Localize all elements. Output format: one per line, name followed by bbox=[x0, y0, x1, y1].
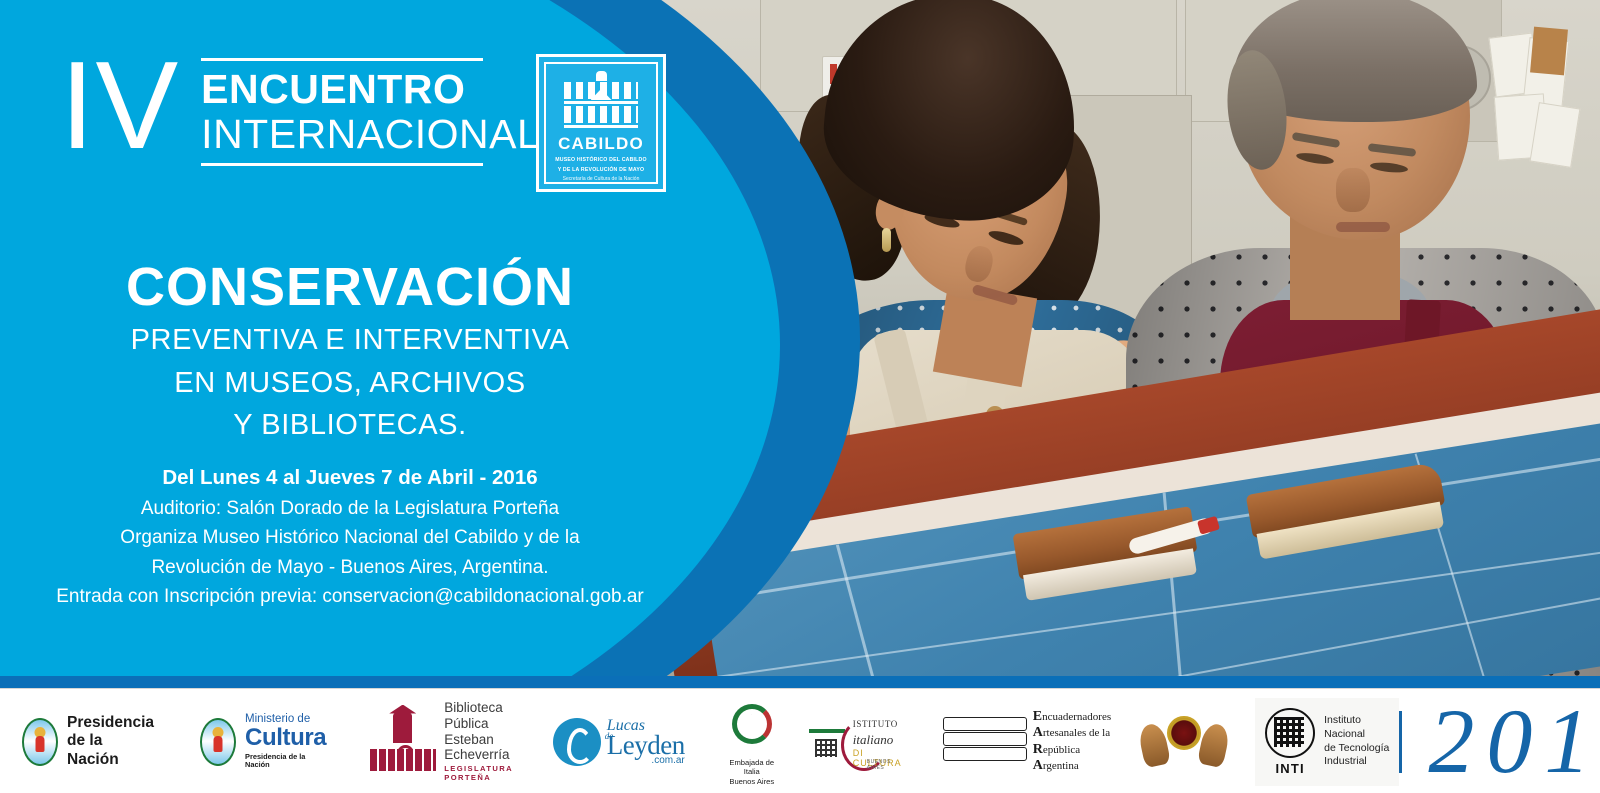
biblioteca-line1: Biblioteca Pública bbox=[444, 700, 513, 732]
cabildo-logo-sub2: Y DE LA REVOLUCIÓN DE MAYO bbox=[558, 167, 645, 174]
event-name-line1: ENCUENTRO bbox=[201, 68, 540, 111]
subtitle-line1: PREVENTIVA E INTERVENTIVA bbox=[0, 322, 700, 359]
logo-eara: Encuadernadores Artesanales de la Repúbl… bbox=[943, 704, 1111, 780]
ministerio-line2: Cultura bbox=[245, 726, 326, 751]
eara-line2: rtesanales de la bbox=[1043, 727, 1110, 739]
year-divider bbox=[1399, 711, 1402, 773]
eara-cap3: R bbox=[1033, 742, 1043, 757]
inti-label: INTI bbox=[1275, 761, 1304, 776]
earring bbox=[882, 228, 891, 252]
logo-embajada-italia: Embajada de Italia Buenos Aires bbox=[729, 704, 775, 780]
eara-cap2: A bbox=[1033, 725, 1043, 740]
presidencia-line1: Presidencia bbox=[67, 714, 154, 733]
embajada-line1: Embajada de Italia bbox=[729, 758, 775, 778]
iic-mark-icon: ISTITUTO italiano DI CULTURA BUENOS AIRE… bbox=[809, 715, 909, 769]
poster-content: IV ENCUENTRO INTERNACIONAL CABILDO MUSEO… bbox=[0, 0, 720, 676]
page-title: CONSERVACIÓN bbox=[0, 258, 700, 316]
logo-inti: INTI Instituto Nacional de Tecnología In… bbox=[1255, 698, 1399, 786]
inti-line4: Industrial bbox=[1324, 755, 1389, 769]
eara-cap1: E bbox=[1033, 709, 1042, 724]
sponsor-footer: Presidencia de la Nación Ministerio de C… bbox=[0, 688, 1600, 793]
nose bbox=[1336, 168, 1370, 212]
cabildo-tower-icon bbox=[596, 71, 607, 81]
event-name-block: ENCUENTRO INTERNACIONAL bbox=[201, 58, 540, 166]
eara-line1: ncuadernadores bbox=[1042, 711, 1111, 723]
logo-ministerio-cultura: Ministerio de Cultura Presidencia de la … bbox=[200, 704, 326, 780]
inti-grid-icon bbox=[1265, 708, 1315, 758]
poster-title-block: CONSERVACIÓN PREVENTIVA E INTERVENTIVA E… bbox=[0, 258, 700, 444]
library-building-icon bbox=[370, 713, 436, 771]
biblioteca-line2: Esteban Echeverría bbox=[444, 732, 513, 764]
bottom-blue-strip bbox=[0, 676, 1600, 688]
eara-line3: epública bbox=[1043, 744, 1080, 756]
iic-line4: BUENOS AIRES bbox=[867, 759, 909, 771]
argentina-shield-icon bbox=[22, 718, 58, 766]
biblioteca-line3: LEGISLATURA PORTEÑA bbox=[444, 765, 513, 783]
leyden-monogram-icon bbox=[553, 718, 601, 766]
subtitle-line2: EN MUSEOS, ARCHIVOS bbox=[0, 365, 700, 402]
mouth bbox=[1336, 222, 1390, 232]
edition-numeral: IV bbox=[60, 52, 179, 161]
cabildo-logo-sub1: MUSEO HISTÓRICO DEL CABILDO bbox=[555, 157, 646, 164]
event-organizer-line1: Organiza Museo Histórico Nacional del Ca… bbox=[0, 523, 700, 552]
argentina-shield-icon bbox=[200, 718, 236, 766]
iic-line1: ISTITUTO bbox=[853, 719, 898, 729]
logo-lucas-leyden: Lucas de Leyden .com.ar bbox=[553, 704, 685, 780]
cabildo-logo-name: CABILDO bbox=[558, 134, 644, 154]
event-header: IV ENCUENTRO INTERNACIONAL bbox=[60, 52, 540, 166]
inti-line1: Instituto bbox=[1324, 714, 1389, 728]
embajada-line2: Buenos Aires bbox=[729, 777, 775, 787]
rule-bottom bbox=[201, 163, 483, 166]
logo-crest bbox=[1139, 704, 1229, 780]
event-name-line2: INTERNACIONAL bbox=[201, 113, 540, 156]
leyden-prefix: de bbox=[605, 732, 614, 740]
event-venue: Auditorio: Salón Dorado de la Legislatur… bbox=[0, 494, 700, 523]
logo-biblioteca-publica: Biblioteca Pública Esteban Echeverría LE… bbox=[370, 704, 513, 780]
heraldic-crest-icon bbox=[1139, 714, 1229, 770]
logo-istituto-italiano-cultura: ISTITUTO italiano DI CULTURA BUENOS AIRE… bbox=[809, 704, 909, 780]
inti-line2: Nacional bbox=[1324, 728, 1389, 742]
logo-presidencia: Presidencia de la Nación bbox=[22, 704, 154, 780]
event-dates: Del Lunes 4 al Jueves 7 de Abril - 2016 bbox=[0, 462, 700, 494]
cabildo-logo: CABILDO MUSEO HISTÓRICO DEL CABILDO Y DE… bbox=[536, 54, 666, 192]
inti-line3: de Tecnología bbox=[1324, 742, 1389, 756]
event-organizer-line2: Revolución de Mayo - Buenos Aires, Argen… bbox=[0, 553, 700, 582]
cabildo-arches-icon bbox=[564, 82, 638, 130]
italy-emblem-icon bbox=[729, 704, 775, 756]
poster-root: IV ENCUENTRO INTERNACIONAL CABILDO MUSEO… bbox=[0, 0, 1600, 793]
ministerio-line3: Presidencia de la Nación bbox=[245, 753, 326, 768]
event-info-block: Del Lunes 4 al Jueves 7 de Abril - 2016 … bbox=[0, 462, 700, 612]
subtitle-line3: Y BIBLIOTECAS. bbox=[0, 407, 700, 444]
iic-line2: italiano bbox=[853, 732, 893, 748]
year-label: 2016 bbox=[1428, 704, 1600, 779]
eara-cap4: A bbox=[1033, 758, 1043, 773]
cabildo-logo-sub3: Secretaría de Cultura de la Nación bbox=[563, 176, 640, 182]
eara-line4: rgentina bbox=[1043, 760, 1079, 772]
event-registration: Entrada con Inscripción previa: conserva… bbox=[0, 582, 700, 611]
bound-books-icon bbox=[943, 715, 1025, 769]
rule-top bbox=[201, 58, 483, 61]
presidencia-line2: de la Nación bbox=[67, 732, 154, 769]
year-block: 2016 bbox=[1399, 704, 1600, 779]
